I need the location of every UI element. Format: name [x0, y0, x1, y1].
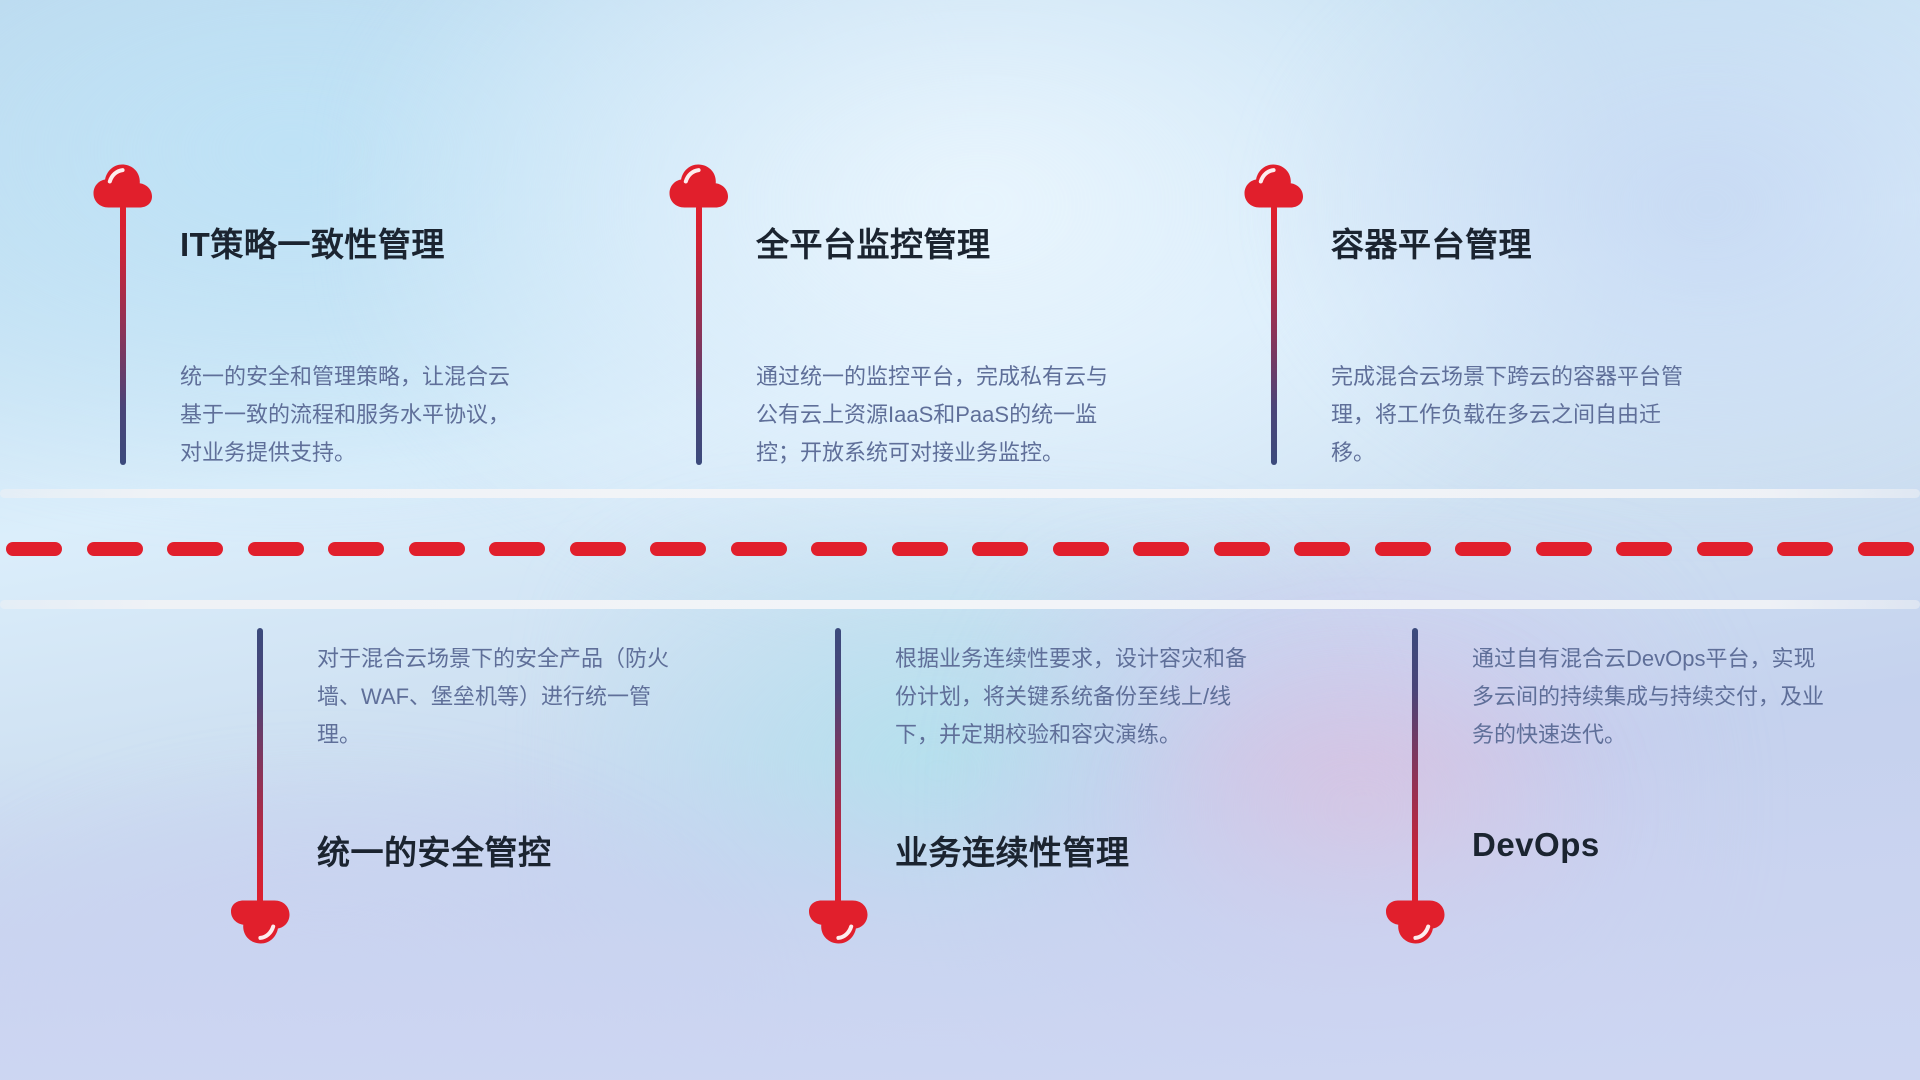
- card-heading: DevOps: [1472, 826, 1600, 864]
- divider-dash: [328, 542, 384, 556]
- divider-rail-top: [0, 489, 1920, 498]
- divider-dash: [1777, 542, 1833, 556]
- connector-stem: [120, 205, 126, 465]
- divider-dash: [570, 542, 626, 556]
- divider-dash: [650, 542, 706, 556]
- divider-dash: [1697, 542, 1753, 556]
- cloud-icon: [92, 160, 154, 210]
- divider-rail-bottom: [0, 600, 1920, 609]
- divider-dash: [1294, 542, 1350, 556]
- divider-dash: [1536, 542, 1592, 556]
- divider-dash: [167, 542, 223, 556]
- divider-dash: [811, 542, 867, 556]
- card-body: 对于混合云场景下的安全产品（防火墙、WAF、堡垒机等）进行统一管理。: [317, 640, 677, 753]
- card-body: 通过统一的监控平台，完成私有云与公有云上资源IaaS和PaaS的统一监控；开放系…: [756, 358, 1116, 471]
- cloud-icon: [668, 160, 730, 210]
- infographic-canvas: IT策略一致性管理 统一的安全和管理策略，让混合云基于一致的流程和服务水平协议，…: [0, 0, 1920, 1080]
- divider-dash: [6, 542, 62, 556]
- divider-dash: [489, 542, 545, 556]
- card-heading: IT策略一致性管理: [180, 218, 445, 266]
- divider-dash: [731, 542, 787, 556]
- divider-dash: [892, 542, 948, 556]
- divider-dash: [1858, 542, 1914, 556]
- divider-dash: [248, 542, 304, 556]
- card-body: 通过自有混合云DevOps平台，实现多云间的持续集成与持续交付，及业务的快速迭代…: [1472, 640, 1832, 753]
- dashed-separator: [0, 489, 1920, 609]
- connector-stem: [696, 205, 702, 465]
- divider-dash: [1375, 542, 1431, 556]
- connector-stem: [835, 628, 841, 913]
- divider-dash: [1053, 542, 1109, 556]
- card-heading: 统一的安全管控: [317, 826, 552, 874]
- connector-stem: [1271, 205, 1277, 465]
- card-heading: 业务连续性管理: [895, 826, 1130, 874]
- divider-dash: [972, 542, 1028, 556]
- divider-dash: [1455, 542, 1511, 556]
- cloud-icon: [229, 898, 291, 948]
- cloud-icon: [807, 898, 869, 948]
- card-heading: 全平台监控管理: [756, 218, 991, 266]
- cloud-icon: [1243, 160, 1305, 210]
- card-heading: 容器平台管理: [1331, 218, 1532, 266]
- divider-dash-row: [0, 542, 1920, 556]
- divider-dash: [1214, 542, 1270, 556]
- card-body: 根据业务连续性要求，设计容灾和备份计划，将关键系统备份至线上/线下，并定期校验和…: [895, 640, 1255, 753]
- cloud-icon: [1384, 898, 1446, 948]
- card-body: 完成混合云场景下跨云的容器平台管理，将工作负载在多云之间自由迁移。: [1331, 358, 1691, 471]
- divider-dash: [1616, 542, 1672, 556]
- connector-stem: [257, 628, 263, 913]
- divider-dash: [87, 542, 143, 556]
- divider-dash: [1133, 542, 1189, 556]
- divider-dash: [409, 542, 465, 556]
- card-body: 统一的安全和管理策略，让混合云基于一致的流程和服务水平协议，对业务提供支持。: [180, 358, 510, 471]
- connector-stem: [1412, 628, 1418, 913]
